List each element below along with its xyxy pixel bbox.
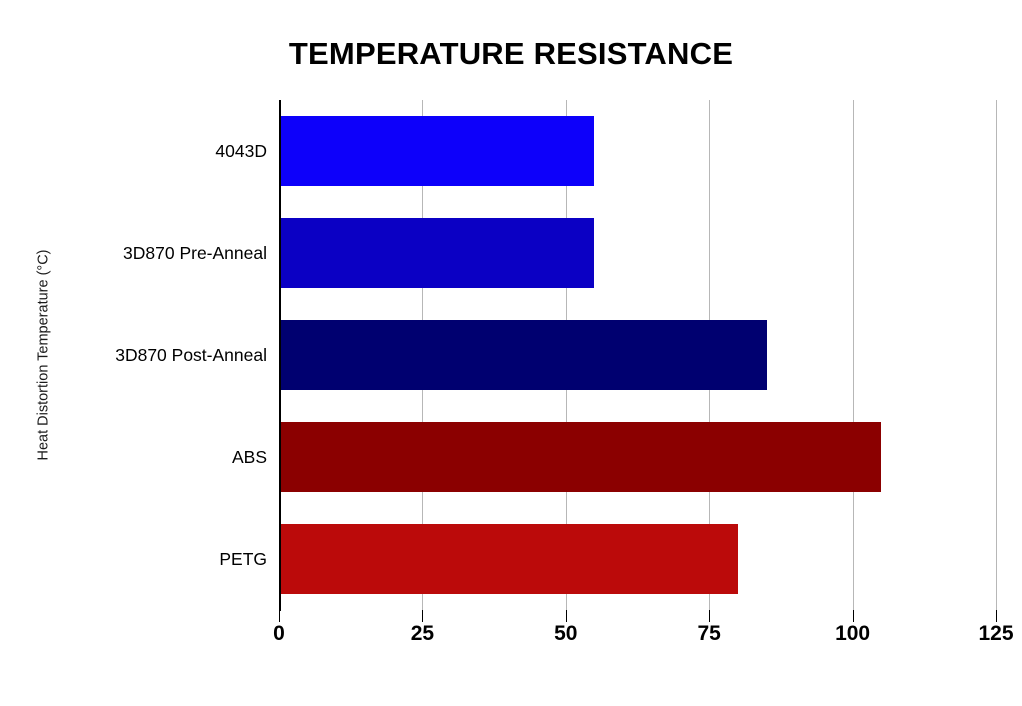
x-tick-label: 25 (411, 622, 434, 646)
x-tick-mark (853, 610, 854, 622)
y-axis-line (279, 100, 281, 611)
x-tick-label: 125 (978, 622, 1013, 646)
bar (279, 524, 738, 594)
bar (279, 422, 881, 492)
gridline (996, 100, 997, 610)
bar (279, 320, 767, 390)
category-label: 3D870 Pre-Anneal (47, 228, 267, 278)
category-label-text: 3D870 Pre-Anneal (123, 241, 267, 266)
bar-chart: TEMPERATURE RESISTANCE Heat Distortion T… (0, 0, 1022, 706)
category-label: 3D870 Post-Anneal (47, 330, 267, 380)
bar (279, 218, 594, 288)
x-tick-mark (566, 610, 567, 622)
category-label: PETG (47, 534, 267, 584)
x-tick-label: 50 (554, 622, 577, 646)
category-label-text: ABS (232, 445, 267, 470)
x-tick-mark (709, 610, 710, 622)
x-tick-mark (279, 610, 280, 622)
x-axis-tick-labels: 0255075100125 (279, 622, 996, 662)
gridline (853, 100, 854, 610)
category-label: 4043D (47, 126, 267, 176)
x-tick-label: 100 (835, 622, 870, 646)
x-tick-mark (996, 610, 997, 622)
bar (279, 116, 594, 186)
x-tick-label: 75 (698, 622, 721, 646)
category-label-text: 4043D (215, 139, 267, 164)
chart-title: TEMPERATURE RESISTANCE (0, 36, 1022, 72)
category-label: ABS (47, 432, 267, 482)
category-label-text: PETG (219, 547, 267, 572)
x-tick-mark (422, 610, 423, 622)
category-labels: 4043D3D870 Pre-Anneal3D870 Post-AnnealAB… (47, 100, 267, 610)
x-tick-label: 0 (273, 622, 285, 646)
category-label-text: 3D870 Post-Anneal (115, 343, 267, 368)
plot-area (279, 100, 996, 610)
